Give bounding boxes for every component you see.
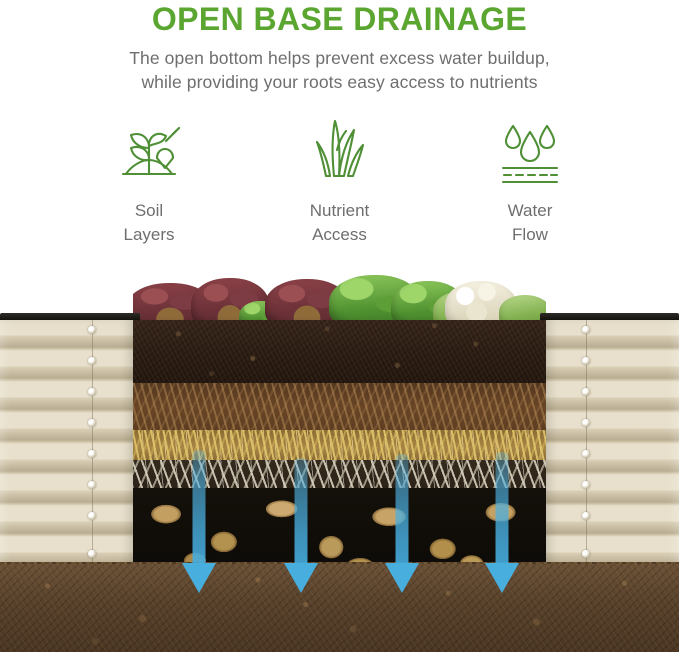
raised-garden-bed-illustration xyxy=(0,262,679,652)
water-droplets-permeable-layer-icon xyxy=(455,115,605,187)
screw xyxy=(88,326,96,334)
bed-panel-left xyxy=(0,320,133,575)
water-flow-arrow xyxy=(182,450,216,595)
subtitle-line-2: while providing your roots easy access t… xyxy=(0,70,679,95)
arrow-head xyxy=(182,563,216,593)
arrow-head xyxy=(385,563,419,593)
screw xyxy=(88,481,96,489)
arrow-head xyxy=(485,563,519,593)
feature-label-line-1: Nutrient xyxy=(265,199,415,222)
grass-blades-icon xyxy=(265,115,415,187)
water-flow-arrow xyxy=(284,458,318,596)
arrow-shaft xyxy=(193,450,206,568)
feature-label-line-1: Water xyxy=(455,199,605,222)
feature-label-line-2: Layers xyxy=(74,223,224,246)
feature-label-nutrient-access: Nutrient Access xyxy=(265,199,415,246)
water-flow-arrow xyxy=(485,452,519,596)
screw xyxy=(582,550,590,558)
screw xyxy=(88,512,96,520)
screw xyxy=(582,450,590,458)
bed-panel-right xyxy=(546,320,679,575)
screw xyxy=(88,550,96,558)
arrow-shaft xyxy=(295,458,308,568)
screw-column-left xyxy=(88,320,97,575)
screw xyxy=(582,388,590,396)
screw xyxy=(88,388,96,396)
screw xyxy=(582,481,590,489)
arrow-head xyxy=(284,563,318,593)
screw xyxy=(88,357,96,365)
screw-column-right xyxy=(582,320,591,575)
arrow-shaft xyxy=(396,454,409,568)
soil-plant-shovel-icon xyxy=(74,115,224,187)
screw xyxy=(582,512,590,520)
feature-list: Soil Layers Nutrient Access xyxy=(0,115,679,246)
feature-label-soil-layers: Soil Layers xyxy=(74,199,224,246)
soil-layer-compost-mulch xyxy=(133,383,546,435)
page-title: OPEN BASE DRAINAGE xyxy=(0,2,679,37)
feature-item-water-flow: Water Flow xyxy=(455,115,605,246)
feature-label-line-2: Access xyxy=(265,223,415,246)
header-block: OPEN BASE DRAINAGE The open bottom helps… xyxy=(0,0,679,95)
screw xyxy=(88,450,96,458)
feature-label-line-2: Flow xyxy=(455,223,605,246)
feature-label-line-1: Soil xyxy=(74,199,224,222)
subtitle-line-1: The open bottom helps prevent excess wat… xyxy=(0,46,679,71)
arrow-shaft xyxy=(496,452,509,568)
native-ground-soil xyxy=(0,564,679,652)
feature-item-soil-layers: Soil Layers xyxy=(74,115,224,246)
screw xyxy=(582,419,590,427)
page-subtitle: The open bottom helps prevent excess wat… xyxy=(0,46,679,96)
screw xyxy=(88,419,96,427)
feature-item-nutrient-access: Nutrient Access xyxy=(265,115,415,246)
screw xyxy=(582,326,590,334)
screw xyxy=(582,357,590,365)
feature-label-water-flow: Water Flow xyxy=(455,199,605,246)
water-flow-arrow xyxy=(385,454,419,596)
soil-layer-topsoil xyxy=(133,320,546,383)
